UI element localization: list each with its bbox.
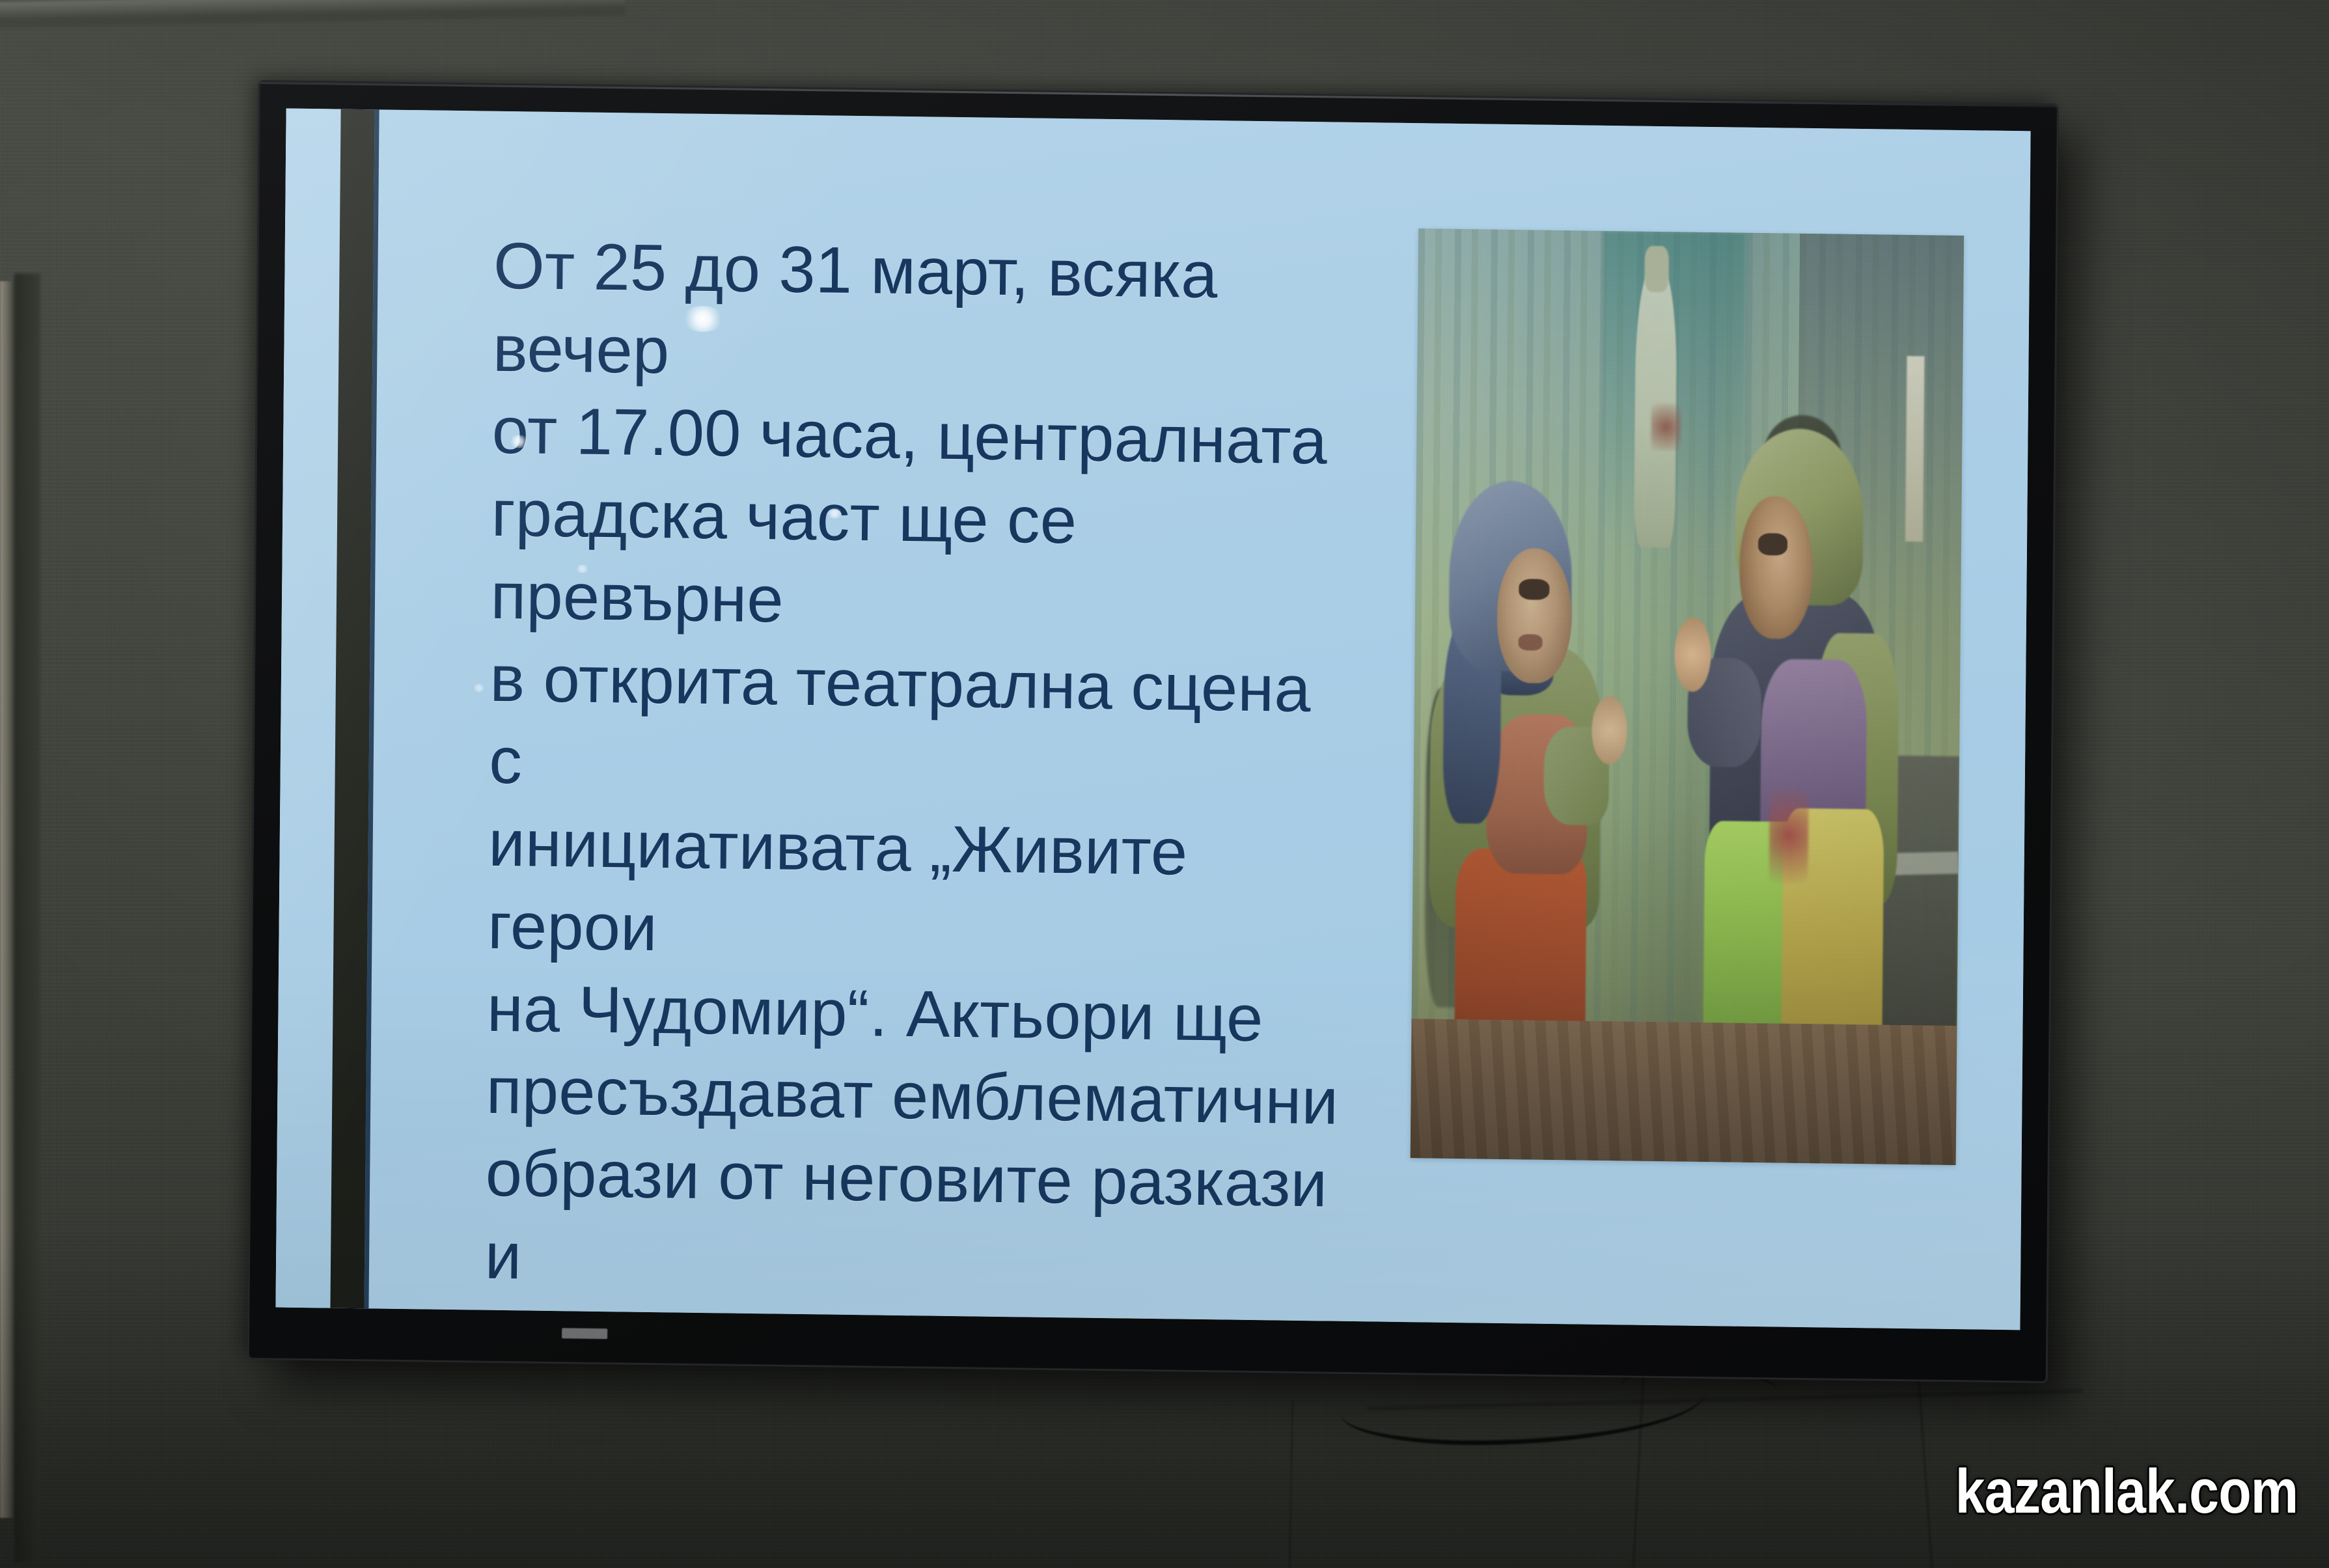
watermark-suffix: .com: [2175, 1457, 2298, 1526]
painting-floor-texture: [1411, 1019, 1957, 1165]
figure-left-hand: [1592, 696, 1627, 764]
watercolour-painting: [1411, 228, 1964, 1164]
watermark-name: kazanlak: [1955, 1457, 2174, 1526]
figure-left-face: [1496, 548, 1572, 684]
slide-body-text: От 25 до 31 март, всяка вечер от 17.00 ч…: [480, 225, 1360, 1330]
slide-content-area: От 25 до 31 март, всяка вечер от 17.00 ч…: [368, 109, 2030, 1330]
slide-left-stripe-light: [275, 109, 340, 1308]
presentation-slide: От 25 до 31 март, всяка вечер от 17.00 ч…: [275, 109, 2030, 1330]
tv-brand-label: [562, 1328, 607, 1339]
figure-right-eye: [1758, 533, 1788, 555]
wall-mounted-tv: От 25 до 31 март, всяка вечер от 17.00 ч…: [249, 82, 2057, 1381]
painting-red-accent: [1651, 404, 1682, 450]
painting-bottle-cap: [1644, 245, 1669, 292]
figure-left-mouth: [1519, 634, 1543, 650]
painting-figure-left: [1427, 480, 1651, 1096]
figure-left-eye: [1519, 579, 1550, 600]
site-watermark: kazanlak.com: [1955, 1456, 2298, 1528]
figure-right-face: [1739, 496, 1813, 639]
screenshot-root: От 25 до 31 март, всяка вечер от 17.00 ч…: [0, 0, 2329, 1568]
tv-screen: От 25 до 31 март, всяка вечер от 17.00 ч…: [275, 109, 2030, 1330]
painting-figure-right: [1689, 428, 1924, 1109]
figure-right-red-accent: [1769, 788, 1808, 883]
